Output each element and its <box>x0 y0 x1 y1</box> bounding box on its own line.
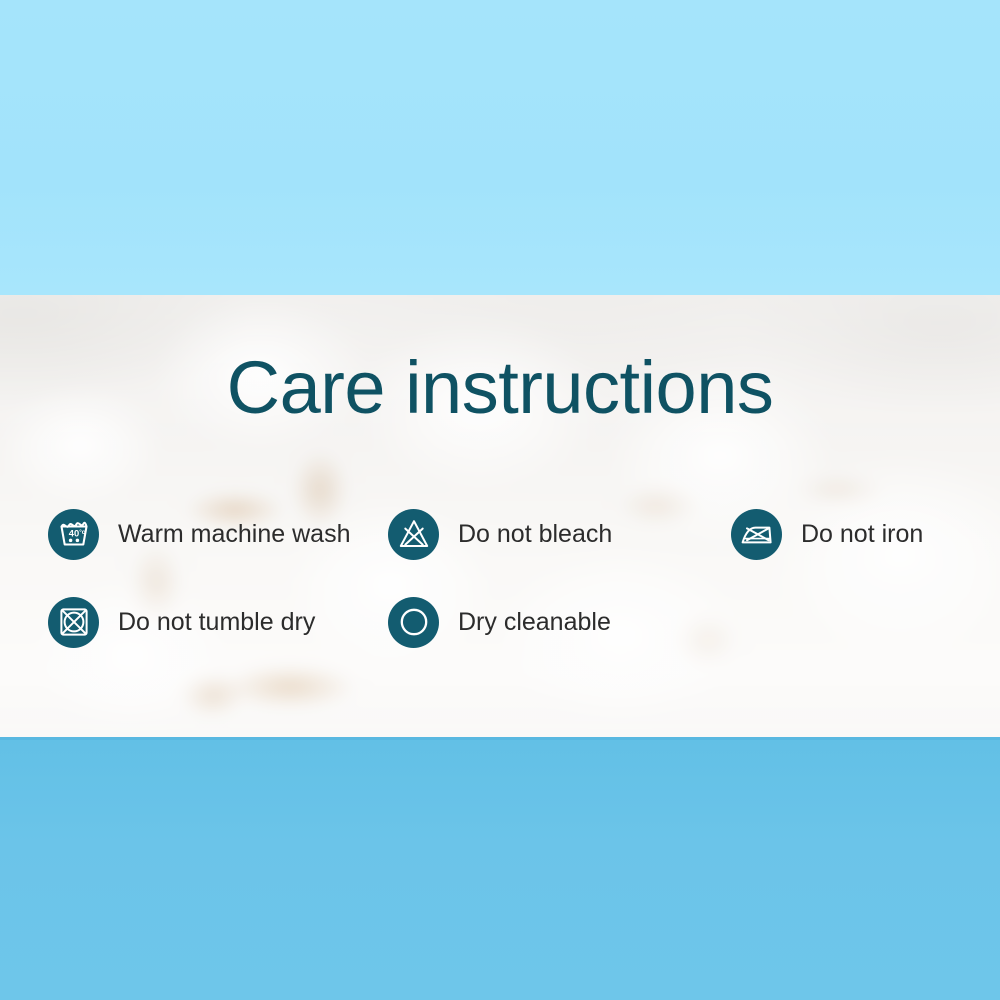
page-title: Care instructions <box>0 351 1000 425</box>
care-item-label: Do not iron <box>801 522 923 547</box>
svg-text:40: 40 <box>68 528 78 539</box>
care-item-label: Dry cleanable <box>458 610 611 635</box>
care-row: 40 °c Warm machine wash <box>48 490 968 578</box>
care-item-do-not-iron: Do not iron <box>731 490 968 578</box>
care-item-label: Warm machine wash <box>118 522 350 547</box>
care-instructions-banner-image: Care instructions 40 <box>0 0 1000 1000</box>
top-blue-band <box>0 0 1000 295</box>
circle-dry-clean-icon <box>388 597 439 648</box>
care-item-warm-machine-wash: 40 °c Warm machine wash <box>48 490 388 578</box>
triangle-crossed-no-bleach-icon <box>388 509 439 560</box>
care-item-do-not-tumble-dry: Do not tumble dry <box>48 578 388 666</box>
care-symbol-grid: 40 °c Warm machine wash <box>48 490 968 666</box>
care-item-label: Do not tumble dry <box>118 610 315 635</box>
banner-content: Care instructions 40 <box>0 295 1000 737</box>
iron-crossed-no-iron-icon <box>731 509 782 560</box>
square-circle-crossed-no-tumble-dry-icon <box>48 597 99 648</box>
care-item-label: Do not bleach <box>458 522 612 547</box>
care-item-dry-cleanable: Dry cleanable <box>388 578 731 666</box>
bottom-blue-band <box>0 737 1000 1000</box>
care-item-do-not-bleach: Do not bleach <box>388 490 731 578</box>
svg-text:°c: °c <box>79 529 85 536</box>
care-row: Do not tumble dry Dry cleanable <box>48 578 968 666</box>
wash-tub-40c-icon: 40 °c <box>48 509 99 560</box>
banner-panel: Care instructions 40 <box>0 295 1000 737</box>
